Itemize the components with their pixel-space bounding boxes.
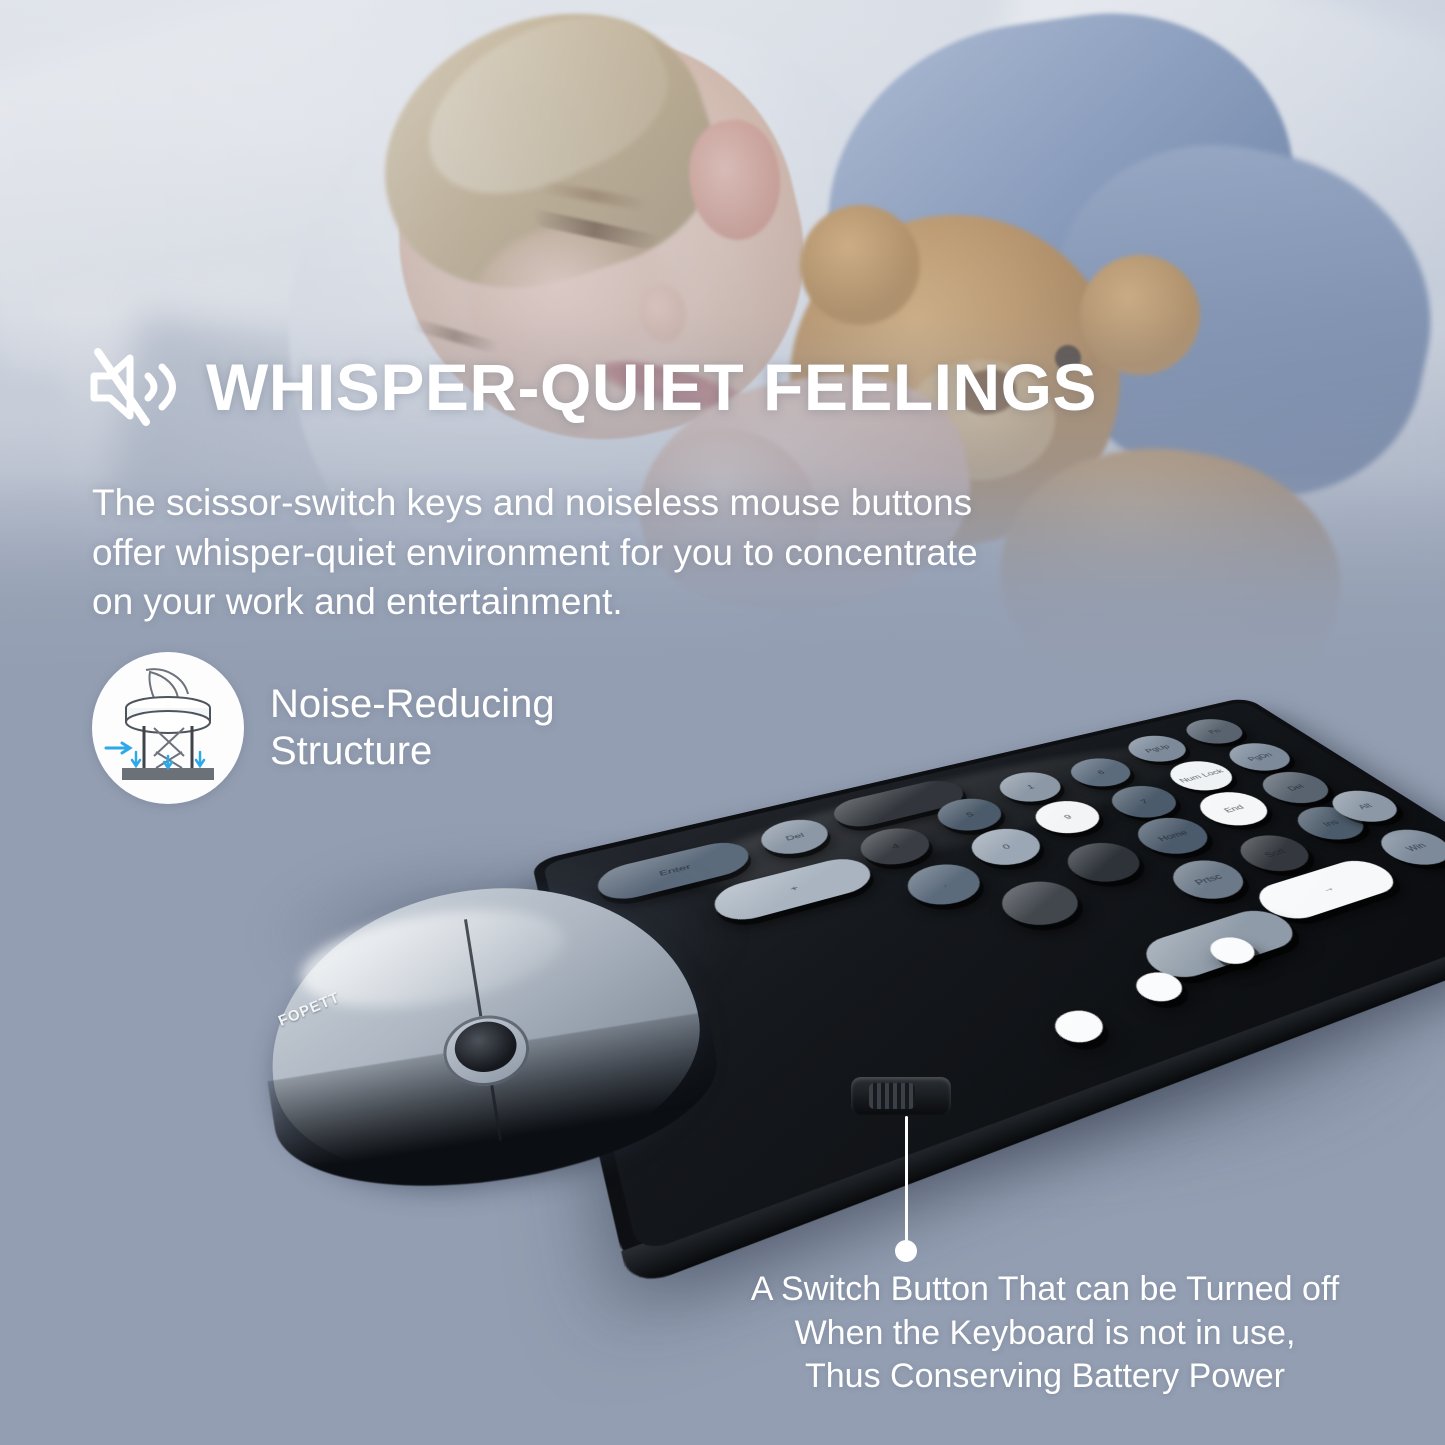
key-end[interactable]: End <box>1187 787 1280 832</box>
key-period[interactable]: . <box>897 858 991 912</box>
key-win[interactable]: Win <box>1367 824 1445 871</box>
headline-row: WHISPER-QUIET FEELINGS <box>88 348 1097 426</box>
mute-speaker-icon <box>88 348 184 426</box>
page-title: WHISPER-QUIET FEELINGS <box>206 354 1097 420</box>
key-6[interactable]: 6 <box>1061 754 1142 792</box>
key-scrl[interactable]: Scrl <box>1227 830 1322 878</box>
key-ctrl-left[interactable] <box>1055 837 1153 889</box>
power-switch-knob[interactable] <box>869 1083 915 1109</box>
key-fn[interactable]: Fn <box>1176 715 1254 748</box>
body-copy-line-1: The scissor-switch keys and noiseless mo… <box>92 478 1152 528</box>
key-prtsc[interactable]: Prtsc <box>1160 854 1257 906</box>
key-9[interactable]: 9 <box>1025 796 1111 839</box>
callout-caption: A Switch Button That can be Turned off W… <box>700 1268 1390 1399</box>
key-shift[interactable] <box>990 875 1092 933</box>
product-feature-banner: WHISPER-QUIET FEELINGS The scissor-switc… <box>0 0 1445 1445</box>
callout-dot <box>895 1240 917 1262</box>
callout-leader-line <box>905 1116 908 1248</box>
key-pgup[interactable]: PgUp <box>1118 731 1197 766</box>
callout-line-3: Thus Conserving Battery Power <box>700 1355 1390 1399</box>
led-indicator-caps[interactable] <box>1047 1005 1112 1048</box>
product-group: Enter Del 4 5 1 6 PgUp Fn + . 0 9 7 Num … <box>0 560 1445 1260</box>
key-del[interactable]: Del <box>754 814 837 860</box>
power-switch[interactable] <box>851 1077 951 1115</box>
callout-line-1: A Switch Button That can be Turned off <box>700 1268 1390 1312</box>
callout-line-2: When the Keyboard is not in use, <box>700 1312 1390 1356</box>
